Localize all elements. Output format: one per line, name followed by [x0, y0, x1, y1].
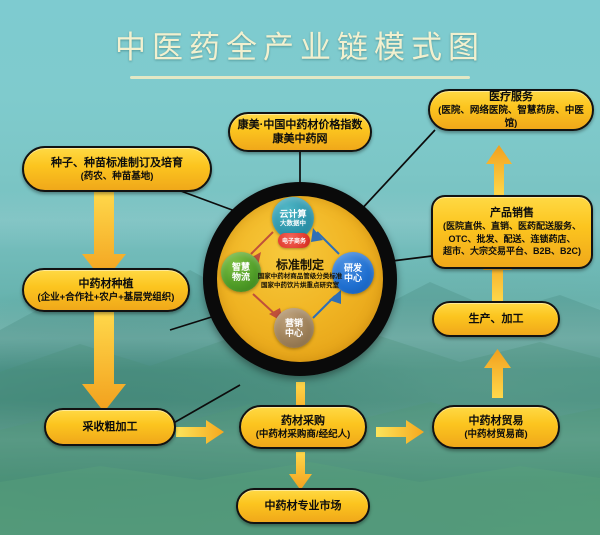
node-procurement-sub: (中药材采购商/经纪人): [256, 428, 350, 441]
node-planting-title: 中药材种植: [79, 277, 134, 291]
hub-arrowhead-rd: [329, 290, 341, 304]
node-medical-service-sub: (医院、网络医院、智慧药房、中医馆): [437, 104, 585, 130]
node-procurement[interactable]: 药材采购 (中药材采购商/经纪人): [239, 405, 367, 449]
page-title: 中医药全产业链模式图: [0, 22, 600, 79]
node-planting[interactable]: 中药材种植 (企业+合作社+农户+基层党组织): [22, 268, 190, 312]
hub-center-line-1: 国家中药材商品管级分类标准: [247, 273, 353, 282]
hub-arc-cloud-to-logistics: [251, 232, 273, 254]
node-price-index-title: 康美·中国中药材价格指数: [238, 118, 363, 132]
arrow-trade-to-production: [484, 349, 511, 398]
node-seed-standard[interactable]: 种子、种苗标准制订及培育 (药农、种苗基地): [22, 146, 212, 192]
node-price-index[interactable]: 康美·中国中药材价格指数 康美中药网: [228, 112, 372, 152]
arrow-procurement-to-trade: [376, 420, 424, 444]
diagram-canvas: 中医药全产业链模式图: [0, 0, 600, 535]
arrow-sales-to-medical: [486, 145, 512, 196]
node-trade-title: 中药材贸易: [469, 414, 524, 428]
arrow-harvest-to-procurement: [176, 420, 224, 444]
node-product-sales-sub-1: (医院直供、直销、医药配送服务、: [443, 220, 581, 233]
node-trade[interactable]: 中药材贸易 (中药材贸易商): [432, 405, 560, 449]
node-seed-standard-sub: (药农、种苗基地): [81, 170, 154, 183]
page-title-text: 中医药全产业链模式图: [0, 22, 600, 67]
arrow-procurement-to-market: [289, 452, 312, 490]
node-product-sales-sub-3: 超市、大宗交易平台、B2B、B2C): [443, 245, 581, 258]
hub-satellite-marketing-center[interactable]: 营销 中心: [274, 308, 314, 348]
node-medical-service-title: 医疗服务: [489, 90, 533, 104]
hub-satellite-cloud-sublabel: 大数据中: [280, 220, 306, 228]
node-production-title: 生产、加工: [469, 312, 524, 326]
hub-arc-rd-to-cloud: [317, 232, 339, 254]
node-production[interactable]: 生产、加工: [432, 301, 560, 337]
hub-satellite-marketing-line2: 中心: [285, 328, 303, 338]
node-price-index-sub: 康美中药网: [273, 132, 328, 146]
node-harvest-process[interactable]: 采收粗加工: [44, 408, 176, 446]
node-procurement-title: 药材采购: [281, 414, 325, 428]
node-product-sales[interactable]: 产品销售 (医院直供、直销、医药配送服务、 OTC、批发、配送、连锁药店、 超市…: [431, 195, 593, 269]
hub-satellite-cloud-label: 云计算: [279, 209, 306, 219]
node-product-sales-sub-2: OTC、批发、配送、连锁药店、: [449, 233, 576, 246]
node-trade-sub: (中药材贸易商): [464, 428, 527, 441]
node-product-sales-title: 产品销售: [490, 206, 534, 220]
central-hub: 云计算 大数据中 电子商务 智慧 物流 研发 中心 营销 中心 标准制定 国家中…: [203, 182, 397, 376]
node-seed-standard-title: 种子、种苗标准制订及培育: [51, 156, 183, 170]
hub-satellite-marketing-line1: 营销: [285, 318, 303, 328]
node-market-title: 中药材专业市场: [265, 499, 342, 513]
hub-badge-ecommerce[interactable]: 电子商务: [278, 233, 310, 248]
node-medical-service[interactable]: 医疗服务 (医院、网络医院、智慧药房、中医馆): [428, 89, 594, 131]
node-harvest-process-title: 采收粗加工: [83, 420, 138, 434]
hub-center-line-2: 国家中药饮片烘重点研究室: [247, 282, 353, 291]
hub-center-title: 标准制定: [247, 258, 353, 273]
hub-center-text: 标准制定 国家中药材商品管级分类标准 国家中药饮片烘重点研究室: [247, 258, 353, 290]
node-planting-sub: (企业+合作社+农户+基层党组织): [38, 291, 175, 304]
title-underline: [130, 76, 470, 79]
arrow-planting-to-harvest: [82, 312, 126, 412]
node-market[interactable]: 中药材专业市场: [236, 488, 370, 524]
central-hub-inner: 云计算 大数据中 电子商务 智慧 物流 研发 中心 营销 中心 标准制定 国家中…: [217, 196, 383, 362]
